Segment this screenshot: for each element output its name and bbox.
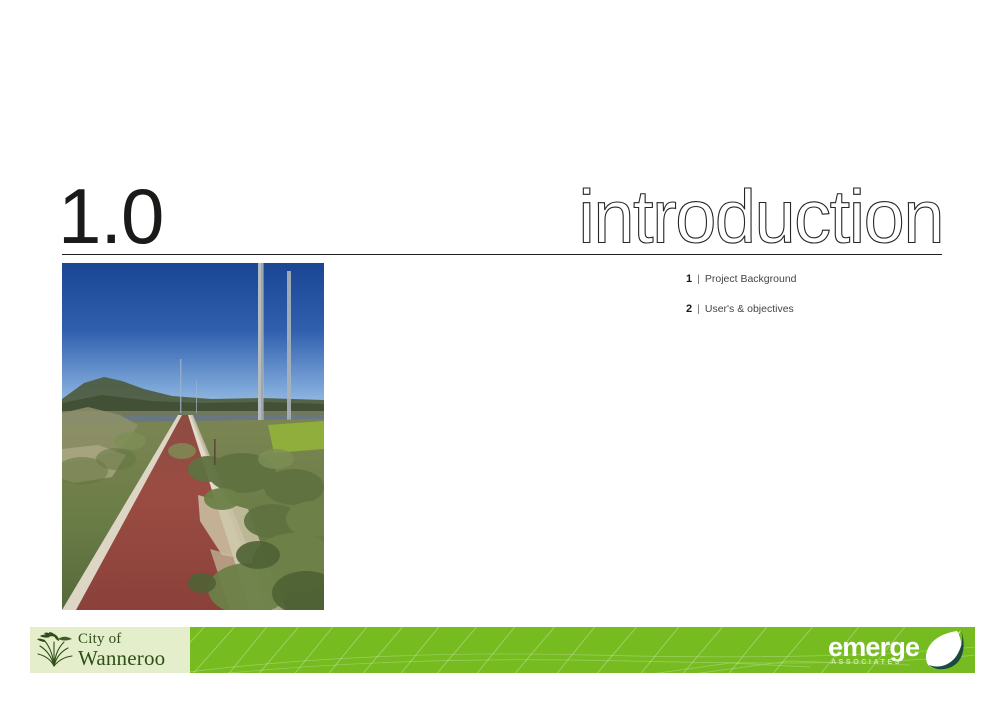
contents-item-number: 2 xyxy=(686,302,692,316)
section-number: 1.0 xyxy=(58,176,163,256)
photo-illustration xyxy=(62,263,324,610)
list-item[interactable]: 2 | User's & objectives xyxy=(686,302,956,316)
list-item[interactable]: 1 | Project Background xyxy=(686,272,956,286)
wanneroo-wordmark: City of Wanneroo xyxy=(78,632,165,669)
contents-item-label: User's & objectives xyxy=(705,302,794,316)
slide-page: 1.0 introduction 1 | Project Background … xyxy=(0,0,1001,702)
section-photo xyxy=(62,263,324,610)
grasstree-icon xyxy=(34,630,76,670)
page-title-text: introduction xyxy=(578,178,943,256)
footer: City of Wanneroo emerge ASSOCIATES xyxy=(30,627,975,673)
title-divider xyxy=(62,254,942,255)
page-title: introduction xyxy=(578,178,943,256)
emerge-logo: emerge ASSOCIATES xyxy=(824,629,969,671)
emerge-wordmark: emerge xyxy=(828,633,919,661)
contents-item-label: Project Background xyxy=(705,272,797,286)
wanneroo-line2: Wanneroo xyxy=(78,648,165,669)
wanneroo-logo: City of Wanneroo xyxy=(30,627,190,673)
contents-item-separator: | xyxy=(697,272,700,286)
contents-item-number: 1 xyxy=(686,272,692,286)
leaf-swoosh-icon xyxy=(917,629,969,671)
wanneroo-line1: City of xyxy=(78,632,165,647)
emerge-tagline: ASSOCIATES xyxy=(831,659,902,667)
contents-item-separator: | xyxy=(697,302,700,316)
contents-list: 1 | Project Background 2 | User's & obje… xyxy=(686,272,956,332)
